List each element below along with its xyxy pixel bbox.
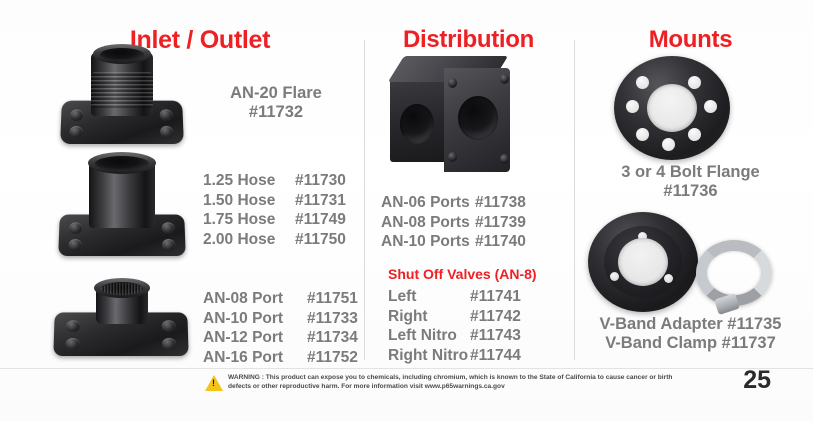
bolt-hole	[69, 222, 82, 234]
caption-an20-flare: AN-20 Flare #11732	[196, 84, 356, 122]
flange-bolt-hole	[688, 76, 701, 89]
warning-triangle-icon	[205, 375, 223, 391]
bolt-hole	[68, 239, 81, 251]
bolt-hole	[160, 109, 173, 121]
caption-bolt-flange: 3 or 4 Bolt Flange #11736	[578, 163, 803, 201]
spec-part-number: #11743	[470, 326, 521, 346]
column-divider-left	[364, 40, 365, 360]
spec-label: 2.00 Hose	[203, 230, 295, 250]
product-photo-threaded-port	[52, 272, 202, 364]
spec-label: 1.25 Hose	[203, 171, 295, 191]
spec-row: AN-12 Port #11734	[203, 328, 358, 348]
bolt-hole	[162, 320, 176, 332]
spec-label: AN-08 Port	[203, 289, 307, 309]
spec-label: AN-16 Port	[203, 348, 307, 368]
flange-bolt-hole	[626, 100, 639, 113]
bolt-hole	[66, 338, 80, 350]
spec-part-number: #11734	[307, 328, 358, 348]
footer-divider	[0, 368, 813, 369]
spec-row: AN-06 Ports #11738	[381, 193, 526, 213]
spec-part-number: #11731	[295, 191, 346, 211]
port-threads	[101, 283, 143, 295]
spec-label: Left	[388, 287, 470, 307]
block-bolt-hole	[448, 152, 457, 162]
product-photo-hose-fitting	[55, 152, 200, 260]
spec-label: AN-12 Port	[203, 328, 307, 348]
bolt-hole	[162, 338, 176, 350]
spec-label: Left Nitro	[388, 326, 470, 346]
flange-bolt-hole	[688, 128, 701, 141]
bolt-hole	[66, 320, 80, 332]
spec-part-number: #11738	[475, 193, 526, 213]
spec-row: Right #11742	[388, 307, 521, 327]
spec-row: AN-08 Port #11751	[203, 289, 358, 309]
bore-opening	[95, 156, 149, 171]
flare-threads	[91, 72, 153, 108]
prop65-warning: WARNING : This product can expose you to…	[205, 374, 675, 391]
column-divider-right	[574, 40, 575, 360]
block-bolt-hole	[500, 74, 509, 84]
spec-part-number: #11742	[470, 307, 521, 327]
product-photo-an20-flare	[55, 42, 200, 150]
spec-row: AN-10 Port #11733	[203, 309, 358, 329]
spec-label: AN-06 Ports	[381, 193, 475, 213]
spec-part-number: #11740	[475, 232, 526, 252]
spec-row: 1.50 Hose #11731	[203, 191, 346, 211]
flange-bolt-hole	[704, 100, 717, 113]
spec-label: AN-10 Port	[203, 309, 307, 329]
catalog-page: Inlet / Outlet AN-20 Flare #11732 1.25 H…	[0, 0, 813, 421]
spec-label: AN-08 Ports	[381, 213, 475, 233]
spec-label: AN-10 Ports	[381, 232, 475, 252]
vband-bolt-hole	[610, 272, 619, 281]
product-photo-distribution-block	[388, 52, 528, 182]
spec-row: Left #11741	[388, 287, 521, 307]
port-spec-list: AN-08 Port #11751 AN-10 Port #11733 AN-1…	[203, 289, 358, 367]
flange-bolt-hole	[662, 138, 675, 151]
column-title-distribution: Distribution	[366, 26, 571, 54]
spec-part-number: #11751	[307, 289, 358, 309]
spec-label: Right	[388, 307, 470, 327]
spec-part-number: #11744	[470, 346, 521, 366]
block-bolt-hole	[448, 78, 457, 88]
spec-label: 1.50 Hose	[203, 191, 295, 211]
spec-row: Left Nitro #11743	[388, 326, 521, 346]
spec-part-number: #11741	[470, 287, 521, 307]
bolt-hole	[70, 109, 83, 121]
spec-part-number: #11733	[307, 309, 358, 329]
vband-bolt-hole	[664, 274, 673, 283]
prop65-warning-text: WARNING : This product can expose you to…	[228, 374, 675, 391]
bolt-hole	[160, 126, 173, 138]
page-number: 25	[743, 366, 771, 395]
hose-spec-list: 1.25 Hose #11730 1.50 Hose #11731 1.75 H…	[203, 171, 346, 249]
spec-part-number: #11730	[295, 171, 346, 191]
spec-row: 1.75 Hose #11749	[203, 210, 346, 230]
block-bolt-hole	[500, 154, 509, 164]
shut-off-valves-heading: Shut Off Valves (AN-8)	[388, 266, 537, 282]
product-photo-vband	[588, 210, 783, 315]
spec-part-number: #11750	[295, 230, 346, 250]
block-port-bore	[400, 104, 434, 144]
bore-opening	[100, 48, 144, 61]
flange-bolt-hole	[636, 76, 649, 89]
shut-off-valve-list: Left #11741 Right #11742 Left Nitro #117…	[388, 287, 521, 365]
bolt-hole	[162, 239, 175, 251]
spec-row: AN-16 Port #11752	[203, 348, 358, 368]
spec-row: 1.25 Hose #11730	[203, 171, 346, 191]
flange-center-bore	[647, 84, 697, 132]
block-port-bore	[458, 96, 498, 140]
spec-row: 2.00 Hose #11750	[203, 230, 346, 250]
spec-row: AN-10 Ports #11740	[381, 232, 526, 252]
product-photo-bolt-flange	[614, 56, 730, 160]
caption-vband: V-Band Adapter #11735 V-Band Clamp #1173…	[578, 315, 803, 353]
spec-row: AN-08 Ports #11739	[381, 213, 526, 233]
column-title-mounts: Mounts	[578, 26, 803, 54]
bolt-hole	[162, 222, 175, 234]
spec-row: Right Nitro #11744	[388, 346, 521, 366]
spec-part-number: #11749	[295, 210, 346, 230]
spec-part-number: #11739	[475, 213, 526, 233]
flange-bolt-hole	[636, 128, 649, 141]
spec-label: Right Nitro	[388, 346, 470, 366]
vband-center-bore	[618, 238, 668, 286]
distribution-spec-list: AN-06 Ports #11738 AN-08 Ports #11739 AN…	[381, 193, 526, 252]
bolt-hole	[69, 126, 82, 138]
spec-part-number: #11752	[307, 348, 358, 368]
spec-label: 1.75 Hose	[203, 210, 295, 230]
